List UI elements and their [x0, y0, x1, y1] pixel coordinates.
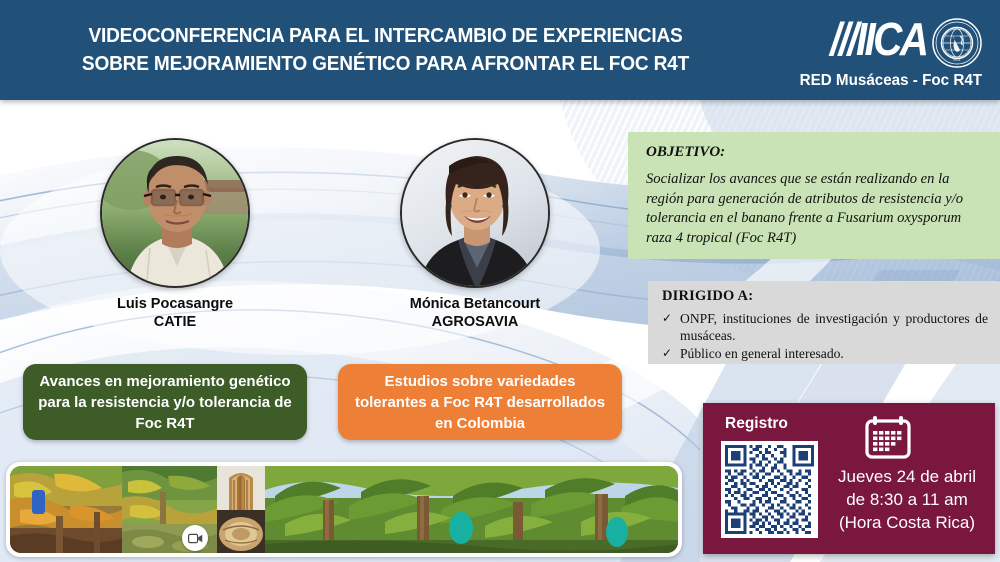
seal-text: IICA [953, 58, 961, 62]
speaker-1-name: Luis Pocasangre [85, 295, 265, 313]
photo-tile-3 [217, 466, 265, 510]
photo-4-art [217, 510, 265, 553]
speaker-1-portrait [100, 138, 250, 288]
page-title-line1: VIDEOCONFERENCIA PARA EL INTERCAMBIO DE … [60, 22, 711, 50]
registro-date-line3: (Hora Costa Rica) [823, 511, 991, 534]
speaker-1-topic-text: Avances en mejoramiento genético para la… [33, 371, 297, 434]
registro-date: Jueves 24 de abril de 8:30 a 11 am (Hora… [823, 465, 991, 534]
photo-1-art [10, 466, 122, 553]
speaker-2-photo-art [402, 140, 550, 288]
list-item: ✓ ONPF, instituciones de investigación y… [662, 310, 988, 344]
objetivo-box: OBJETIVO: Socializar los avances que se … [628, 132, 1000, 259]
speaker-2-portrait [400, 138, 550, 288]
iica-name: IICA [856, 13, 926, 65]
photo-tile-4 [217, 510, 265, 553]
iica-slashes: /// [830, 13, 856, 65]
speaker-card-1: Luis Pocasangre CATIE [85, 138, 265, 331]
registro-panel: Registro [703, 403, 995, 554]
objetivo-title: OBJETIVO: [646, 144, 986, 161]
photo-strip-inner [10, 466, 678, 553]
speaker-1-org: CATIE [85, 313, 265, 331]
video-camera-icon[interactable] [182, 525, 208, 551]
speaker-card-2: Mónica Betancourt AGROSAVIA [385, 138, 565, 331]
iica-subtitle: RED Musáceas - Foc R4T [800, 72, 982, 90]
list-item: ✓ Público en general interesado. [662, 345, 988, 362]
dirigido-a-item-2: Público en general interesado. [680, 345, 988, 362]
registro-qr-code[interactable] [721, 441, 818, 538]
objetivo-body: Socializar los avances que se están real… [646, 170, 986, 248]
dirigido-a-box: DIRIGIDO A: ✓ ONPF, instituciones de inv… [648, 281, 1000, 364]
speaker-1-photo-art [102, 140, 250, 288]
check-icon: ✓ [662, 310, 680, 344]
speaker-2-name: Mónica Betancourt [385, 295, 565, 313]
iica-wordmark: ///IICA [830, 12, 926, 66]
registro-label: Registro [725, 415, 788, 433]
video-camera-glyph [188, 533, 203, 544]
page-header: VIDEOCONFERENCIA PARA EL INTERCAMBIO DE … [0, 0, 1000, 100]
iica-logo: ///IICA IICA RED Musáceas - Foc R4T [771, 10, 986, 92]
qr-code-icon[interactable] [725, 445, 814, 534]
check-icon: ✓ [662, 345, 680, 362]
dirigido-a-item-1: ONPF, instituciones de investigación y p… [680, 310, 988, 344]
photo-strip [6, 462, 682, 557]
photo-5-art [265, 466, 678, 553]
photo-3-art [217, 466, 265, 510]
page-title: VIDEOCONFERENCIA PARA EL INTERCAMBIO DE … [60, 22, 711, 78]
speaker-2-org: AGROSAVIA [385, 313, 565, 331]
dirigido-a-title: DIRIGIDO A: [662, 288, 988, 305]
photo-tile-1 [10, 466, 122, 553]
calendar-icon [865, 415, 911, 459]
registro-date-line2: de 8:30 a 11 am [823, 488, 991, 511]
registro-date-line1: Jueves 24 de abril [823, 465, 991, 488]
dirigido-a-list: ✓ ONPF, instituciones de investigación y… [662, 310, 988, 362]
page-title-line2: SOBRE MEJORAMIENTO GENÉTICO PARA AFRONTA… [60, 50, 711, 78]
speaker-2-topic-box: Estudios sobre variedades tolerantes a F… [338, 364, 622, 440]
iica-globe-seal-icon: IICA [932, 18, 982, 68]
photo-tile-5 [265, 466, 678, 553]
speaker-1-topic-box: Avances en mejoramiento genético para la… [23, 364, 307, 440]
speaker-2-topic-text: Estudios sobre variedades tolerantes a F… [348, 371, 612, 434]
